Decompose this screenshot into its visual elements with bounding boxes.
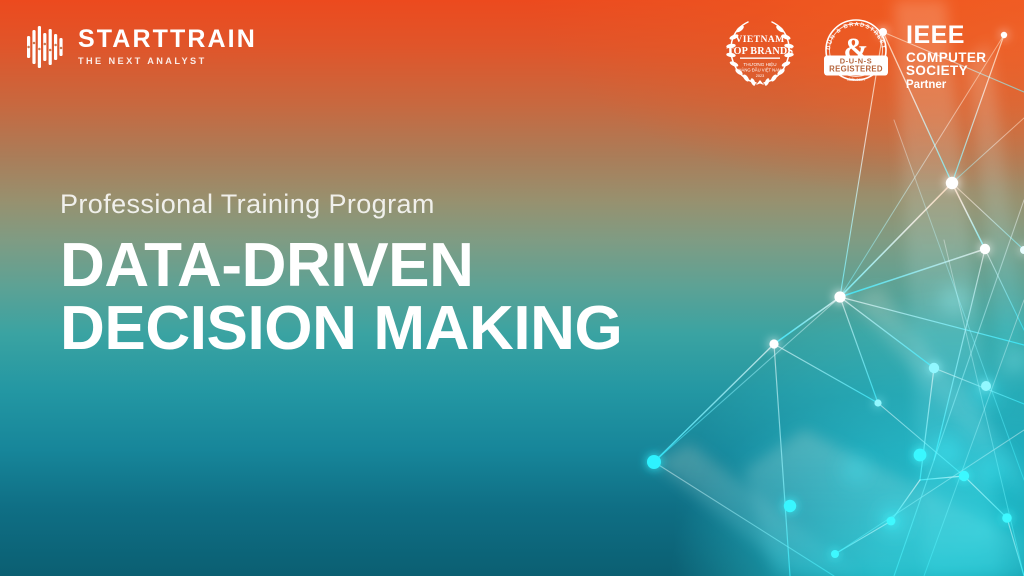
headline-line-2: DECISION MAKING	[60, 297, 680, 360]
ieee-line-1: IEEE	[906, 23, 1010, 49]
title-copy-block: Professional Training Program DATA-DRIVE…	[60, 190, 680, 360]
badge-duns-registered: DUN & BRADSTREET & D-U-N-S REGISTERED dn…	[820, 12, 892, 88]
logo-text: STARTTRAIN THE NEXT ANALYST	[78, 27, 257, 66]
headline-line-1: DATA-DRIVEN	[60, 231, 474, 300]
page-title: DATA-DRIVEN DECISION MAKING	[60, 234, 680, 360]
starttrain-bars-logo-icon	[26, 23, 66, 71]
logo-wordmark: STARTTRAIN	[78, 27, 257, 52]
badge-duns-line2: REGISTERED	[829, 65, 883, 74]
logo-tagline: THE NEXT ANALYST	[78, 57, 257, 66]
badge-duns-sub1: dnb.com	[847, 77, 865, 82]
brand-logo[interactable]: STARTTRAIN THE NEXT ANALYST	[26, 23, 257, 71]
ieee-line-3: SOCIETY	[906, 64, 1010, 78]
badge-vtb-line1: VIETNAM	[735, 34, 784, 45]
badge-ieee-computer-society: IEEE COMPUTER SOCIETY Partner	[906, 12, 1010, 92]
badge-vtb-line2: TOP BRANDS	[727, 46, 794, 57]
laurel-wreath-icon: VIETNAM TOP BRANDS THƯƠNG HIỆU HÀNG ĐẦU …	[714, 12, 806, 90]
badge-vtb-sub3: 2023	[756, 74, 764, 78]
title-slide: STARTTRAIN THE NEXT ANALYST	[0, 0, 1024, 576]
eyebrow-text: Professional Training Program	[60, 190, 680, 220]
badge-vtb-sub1: THƯƠNG HIỆU	[743, 60, 776, 67]
ieee-line-2: COMPUTER	[906, 51, 1010, 65]
certification-badges: VIETNAM TOP BRANDS THƯƠNG HIỆU HÀNG ĐẦU …	[714, 12, 1010, 90]
dun-bradstreet-seal-icon: DUN & BRADSTREET & D-U-N-S REGISTERED dn…	[820, 12, 892, 88]
ieee-line-4: Partner	[906, 80, 1010, 92]
badge-vtb-sub2: HÀNG ĐẦU VIỆT NAM	[739, 68, 782, 73]
badge-vietnam-top-brands: VIETNAM TOP BRANDS THƯƠNG HIỆU HÀNG ĐẦU …	[714, 12, 806, 90]
